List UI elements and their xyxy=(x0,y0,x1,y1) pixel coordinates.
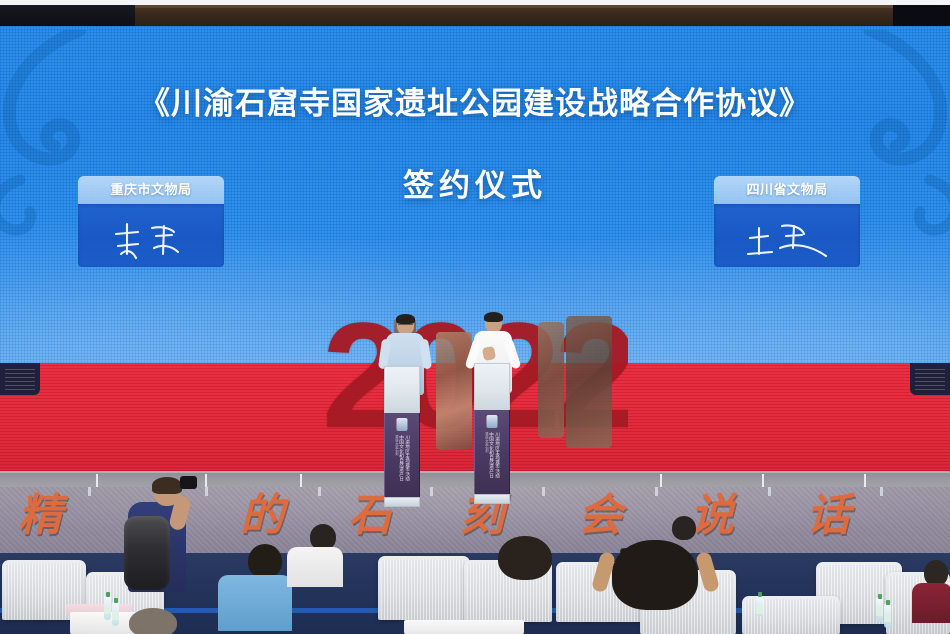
filmer-head xyxy=(612,540,698,610)
press-photographer xyxy=(128,502,186,592)
stone-carving-detail xyxy=(566,316,612,448)
water-bottle xyxy=(104,596,111,620)
podium-main-text: 中国文化和自然遗产日 xyxy=(400,435,405,481)
podium-main-text: 中国文化和自然遗产日 xyxy=(490,432,495,478)
audience-member xyxy=(238,544,292,631)
audience-table xyxy=(404,620,524,634)
audience-chair xyxy=(378,556,470,620)
stage-calligraphy-char: 的 xyxy=(240,490,284,542)
camera-icon xyxy=(180,476,197,489)
water-bottle xyxy=(876,598,883,622)
panel-seam xyxy=(880,487,883,496)
signature-pad xyxy=(78,204,224,267)
audience-head xyxy=(129,608,177,634)
signature-pad xyxy=(714,204,860,267)
camera-backpack xyxy=(124,516,170,590)
speaker-hair xyxy=(484,312,503,322)
audience-head xyxy=(672,516,696,540)
institution-emblem-icon xyxy=(487,415,498,428)
podium-base xyxy=(474,494,510,504)
handwritten-signature-icon xyxy=(78,204,224,267)
phone-filmer xyxy=(612,540,698,610)
photographer-hair xyxy=(152,477,182,494)
handwritten-signature-icon xyxy=(714,204,860,267)
podium-small-text: 重庆大足石刻 xyxy=(394,435,399,481)
panel-seam xyxy=(205,487,208,496)
water-bottle xyxy=(756,596,763,616)
audience-head xyxy=(248,544,282,578)
audience-member xyxy=(920,560,950,623)
audience-head xyxy=(498,536,552,580)
podium-base xyxy=(384,497,420,507)
signature-card-caption: 四川省文物局 xyxy=(714,176,860,204)
institution-emblem-icon xyxy=(397,418,408,431)
floor-mic-stand xyxy=(96,474,98,488)
podium-small-text: 重庆大足石刻 xyxy=(484,432,489,478)
photograph-canvas: 《川渝石窟寺国家遗址公园建设战略合作协议》 签约仪式 重庆市文物局 四川省文物局 xyxy=(0,0,950,634)
floor-mic-stand xyxy=(864,474,866,488)
screen-headline: 《川渝石窟寺国家遗址公园建设战略合作协议》 xyxy=(0,78,950,123)
glasses-icon xyxy=(398,324,413,329)
podium-left: 重庆大足石刻 中国文化和自然遗产日 川渝地区主场城市活动 xyxy=(384,366,420,507)
ceiling-dark-right xyxy=(893,4,950,26)
panel-seam xyxy=(768,487,771,496)
podium-sub-text: 川渝地区主场城市活动 xyxy=(406,435,411,481)
podium-vertical-text: 重庆大足石刻 中国文化和自然遗产日 川渝地区主场城市活动 xyxy=(385,435,419,481)
stone-carving-detail xyxy=(436,332,472,450)
podium-sub-text: 川渝地区主场城市活动 xyxy=(496,432,501,478)
podium-acrylic-top xyxy=(384,366,420,413)
audience-shoulders xyxy=(912,583,950,623)
stage-speaker-left xyxy=(0,363,40,395)
floor-mic-stand xyxy=(762,474,764,488)
speaker-hair xyxy=(396,314,415,324)
panel-seam xyxy=(88,487,91,496)
audience-member xyxy=(118,608,188,634)
audience-member xyxy=(672,516,696,540)
panel-seam xyxy=(542,487,545,496)
floor-mic-stand xyxy=(300,474,302,488)
audience-shoulders xyxy=(218,575,292,631)
podium-acrylic-top xyxy=(474,363,510,410)
stone-carving-detail xyxy=(538,322,564,438)
stage-speaker-right xyxy=(910,363,950,395)
image-top-margin xyxy=(0,0,950,5)
audience-member xyxy=(498,536,552,580)
panel-seam xyxy=(655,487,658,496)
panel-seam xyxy=(318,487,321,496)
clapping-hands xyxy=(482,346,496,361)
stage-calligraphy-char: 话 xyxy=(806,490,850,542)
podium-right: 重庆大足石刻 中国文化和自然遗产日 川渝地区主场城市活动 xyxy=(474,363,510,504)
podium-signage: 重庆大足石刻 中国文化和自然遗产日 川渝地区主场城市活动 xyxy=(474,410,510,494)
podium-signage: 重庆大足石刻 中国文化和自然遗产日 川渝地区主场城市活动 xyxy=(384,413,420,497)
floor-mic-stand xyxy=(205,474,207,488)
podium-vertical-text: 重庆大足石刻 中国文化和自然遗产日 川渝地区主场城市活动 xyxy=(475,432,509,478)
panel-seam xyxy=(430,487,433,496)
stage-calligraphy-char: 会 xyxy=(578,490,622,542)
ceiling-wooden-beam xyxy=(135,5,895,26)
audience-member xyxy=(302,524,343,587)
signature-card-sichuan: 四川省文物局 xyxy=(714,176,860,267)
stage-calligraphy-char: 精 xyxy=(18,490,62,542)
water-bottle xyxy=(112,602,119,626)
floor-mic-stand xyxy=(660,474,662,488)
stage-calligraphy-char: 说 xyxy=(690,490,734,542)
signature-card-caption: 重庆市文物局 xyxy=(78,176,224,204)
audience-shoulders xyxy=(287,547,343,587)
water-bottle xyxy=(884,604,891,628)
signature-card-chongqing: 重庆市文物局 xyxy=(78,176,224,267)
